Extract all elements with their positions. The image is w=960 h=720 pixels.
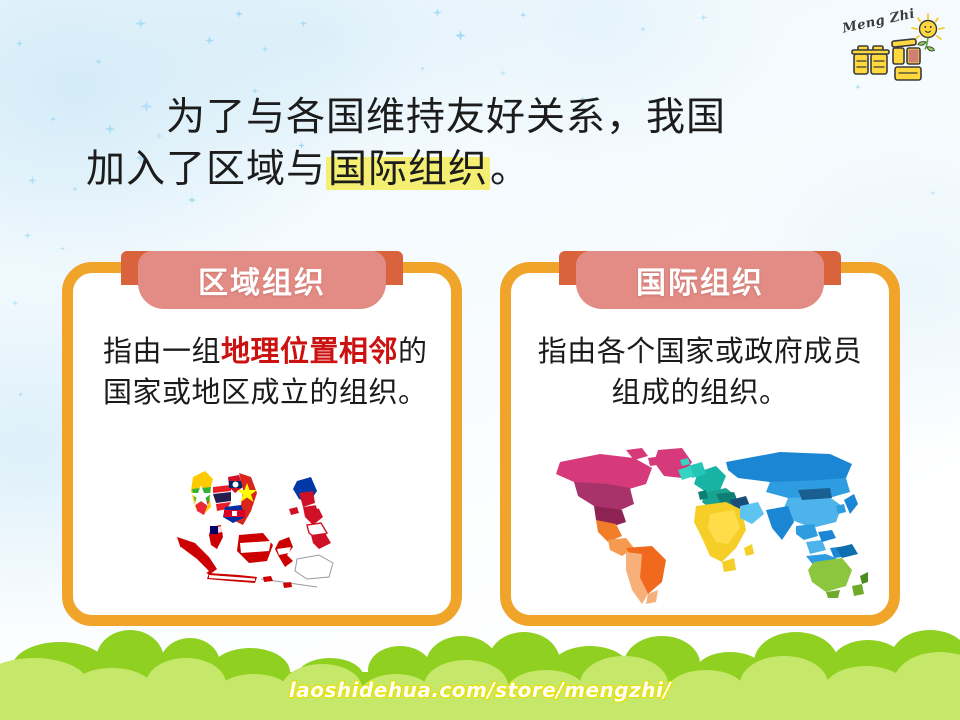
sparkle-star-icon [700, 14, 707, 21]
sparkle-star-icon [300, 20, 307, 27]
body-segment-plain: 指由各个国家或政府成员组成的组织。 [538, 334, 863, 409]
heading-line1: 为了与各国维持友好关系，我国 [166, 95, 726, 140]
sparkle-star-icon [12, 300, 18, 306]
sparkle-star-icon [520, 12, 526, 18]
sparkle-star-icon [16, 40, 23, 47]
sparkle-star-icon [50, 116, 56, 122]
card-title-international: 国际组织 [636, 258, 764, 302]
sparkle-star-icon [205, 36, 214, 45]
sparkle-star-icon [500, 70, 506, 76]
sparkle-star-icon [24, 232, 31, 239]
sparkle-star-icon [235, 10, 243, 18]
sparkle-star-icon [28, 176, 37, 185]
world-color-map-image [511, 441, 889, 611]
body-segment-emphasis: 地理位置相邻 [221, 334, 398, 368]
heading-line2-prefix: 加入了区域与 [86, 147, 326, 192]
sunflower-icon [912, 14, 944, 51]
heading-highlight-term: 国际组织 [326, 147, 490, 192]
sparkle-star-icon [855, 84, 861, 90]
card-international-organization: 国际组织 指由各个国家或政府成员组成的组织。 [500, 262, 900, 626]
ribbon-banner-international: 国际组织 [576, 251, 824, 309]
sparkle-star-icon [930, 190, 936, 196]
sparkle-star-icon [420, 66, 425, 71]
sparkle-star-icon [95, 58, 102, 65]
ribbon-banner-regional: 区域组织 [138, 251, 386, 309]
grass-shapes [0, 608, 960, 720]
sparkle-star-icon [135, 18, 146, 29]
sparkle-star-icon [72, 186, 78, 192]
card-body-regional: 指由一组地理位置相邻的国家或地区成立的组织。 [73, 331, 451, 413]
page-heading: 为了与各国维持友好关系，我国 加入了区域与国际组织。 [86, 92, 886, 197]
sparkle-star-icon [188, 196, 196, 204]
ribbon-plate: 区域组织 [138, 251, 386, 309]
ribbon-plate: 国际组织 [576, 251, 824, 309]
brand-logo: Meng Zhi [840, 6, 952, 84]
sparkle-star-icon [640, 26, 646, 32]
sparkle-star-icon [433, 8, 442, 17]
heading-line2-suffix: 。 [490, 147, 530, 192]
card-regional-organization: 区域组织 指由一组地理位置相邻的国家或地区成立的组织。 [62, 262, 462, 626]
sparkle-star-icon [60, 246, 65, 251]
card-body-international: 指由各个国家或政府成员组成的组织。 [511, 331, 889, 413]
footer-store-url[interactable]: laoshidehua.com/store/mengzhi/ [0, 678, 960, 702]
logo-char-meng [852, 46, 889, 74]
sparkle-star-icon [18, 392, 23, 397]
sparkle-star-icon [455, 30, 466, 41]
body-segment-plain: 指由一组 [103, 334, 221, 368]
grass-footer: laoshidehua.com/store/mengzhi/ [0, 608, 960, 720]
asean-flag-map-image [73, 463, 451, 603]
sparkle-star-icon [262, 46, 268, 52]
card-title-regional: 区域组织 [198, 258, 326, 302]
